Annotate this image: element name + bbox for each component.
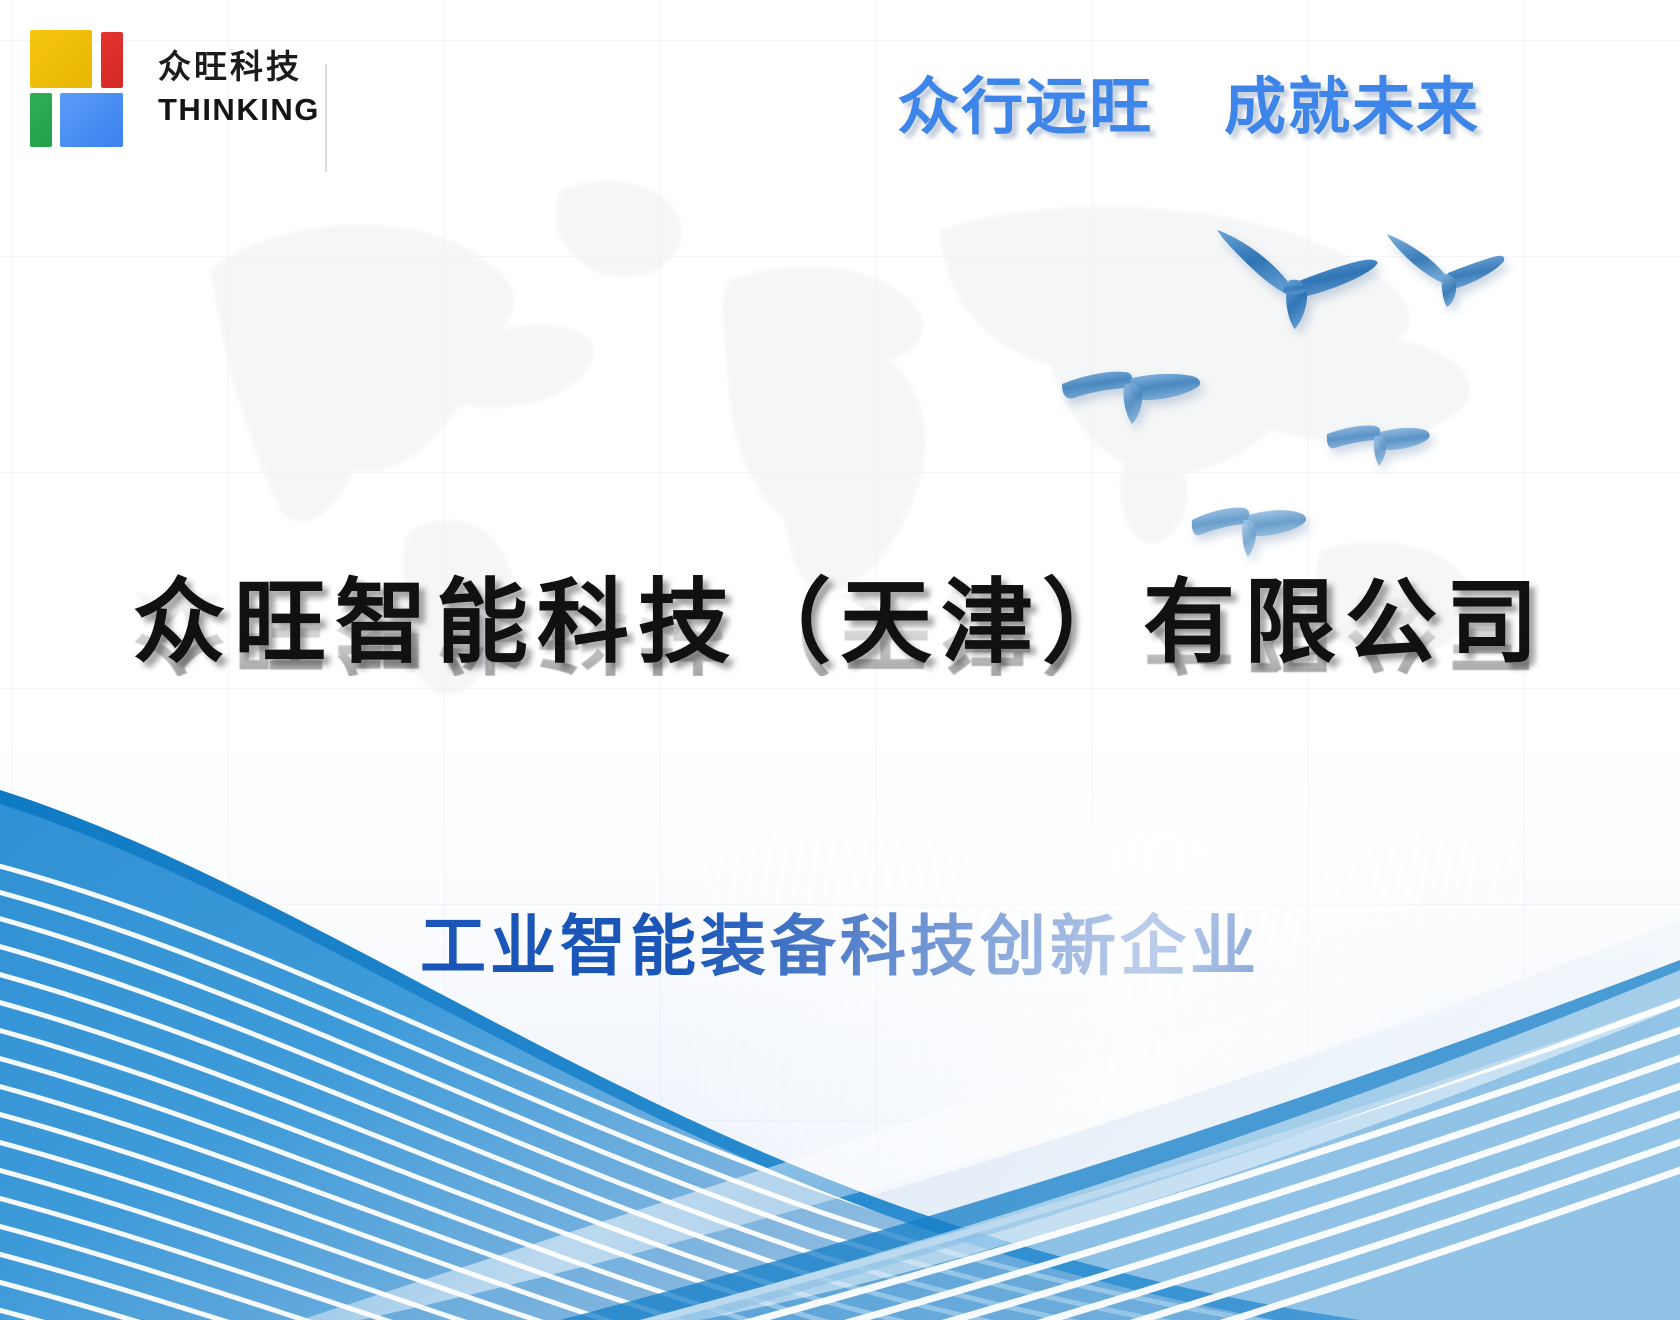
logo-yellow-block-icon	[30, 30, 92, 88]
logo-divider	[325, 64, 327, 172]
slide-header: 众旺科技 THINKING 众行远旺 成就未来	[0, 0, 1680, 190]
title-block: 众旺智能科技（天津）有限公司 众旺智能科技（天津）有限公司	[0, 575, 1680, 772]
logo-blue-block-icon	[60, 93, 123, 147]
logo-red-block-icon	[101, 32, 123, 88]
logo-brand-en: THINKING	[158, 91, 320, 128]
decorative-wave-band	[0, 760, 1680, 1320]
logo-brand-cn: 众旺科技	[158, 46, 320, 87]
company-logo: 众旺科技 THINKING	[30, 30, 320, 144]
presentation-slide: 众旺科技 THINKING 众行远旺 成就未来	[0, 0, 1680, 1320]
logo-text: 众旺科技 THINKING	[158, 32, 320, 142]
logo-mark-icon	[30, 30, 130, 144]
logo-green-block-icon	[30, 93, 52, 147]
header-tagline: 众行远旺 成就未来	[897, 56, 1480, 146]
page-title-reflection: 众旺智能科技（天津）有限公司	[0, 579, 1680, 676]
